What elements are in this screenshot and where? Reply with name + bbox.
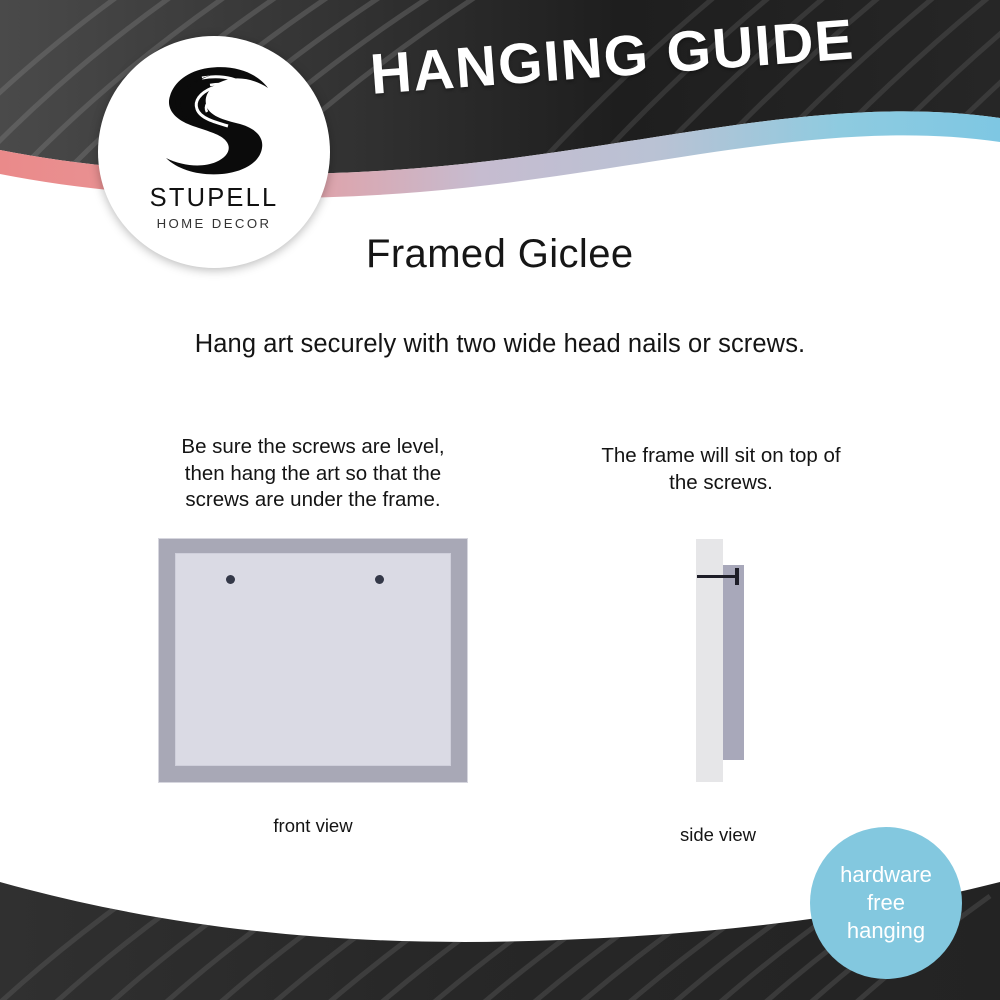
intro-instruction: Hang art securely with two wide head nai… <box>195 330 805 359</box>
badge-line-3: hanging <box>847 917 925 945</box>
product-type-title: Framed Giclee <box>366 232 634 277</box>
badge-line-2: free <box>867 889 905 917</box>
hanging-guide-page: STUPELL HOME DECOR HANGING GUIDE Framed … <box>0 0 1000 1000</box>
screw-dot-right-icon <box>375 575 384 584</box>
front-view-caption: Be sure the screws are level, then hang … <box>163 434 463 514</box>
nail-head-icon <box>735 568 739 585</box>
front-view-frame-diagram <box>159 539 467 782</box>
screw-dot-left-icon <box>226 575 235 584</box>
side-view-caption: The frame will sit on top of the screws. <box>586 443 856 496</box>
page-title: HANGING GUIDE <box>368 6 857 107</box>
logo-badge: STUPELL HOME DECOR <box>98 36 330 268</box>
front-view-label: front view <box>273 815 352 837</box>
side-view-frame <box>723 565 744 760</box>
badge-line-1: hardware <box>840 861 932 889</box>
nail-shaft-icon <box>697 575 738 578</box>
front-view-mat <box>175 553 451 766</box>
side-view-label: side view <box>680 824 756 846</box>
logo-wordmark: STUPELL <box>150 184 279 213</box>
logo-tagline: HOME DECOR <box>157 216 272 231</box>
hardware-free-badge: hardware free hanging <box>810 827 962 979</box>
stupell-swoosh-icon <box>150 62 278 180</box>
